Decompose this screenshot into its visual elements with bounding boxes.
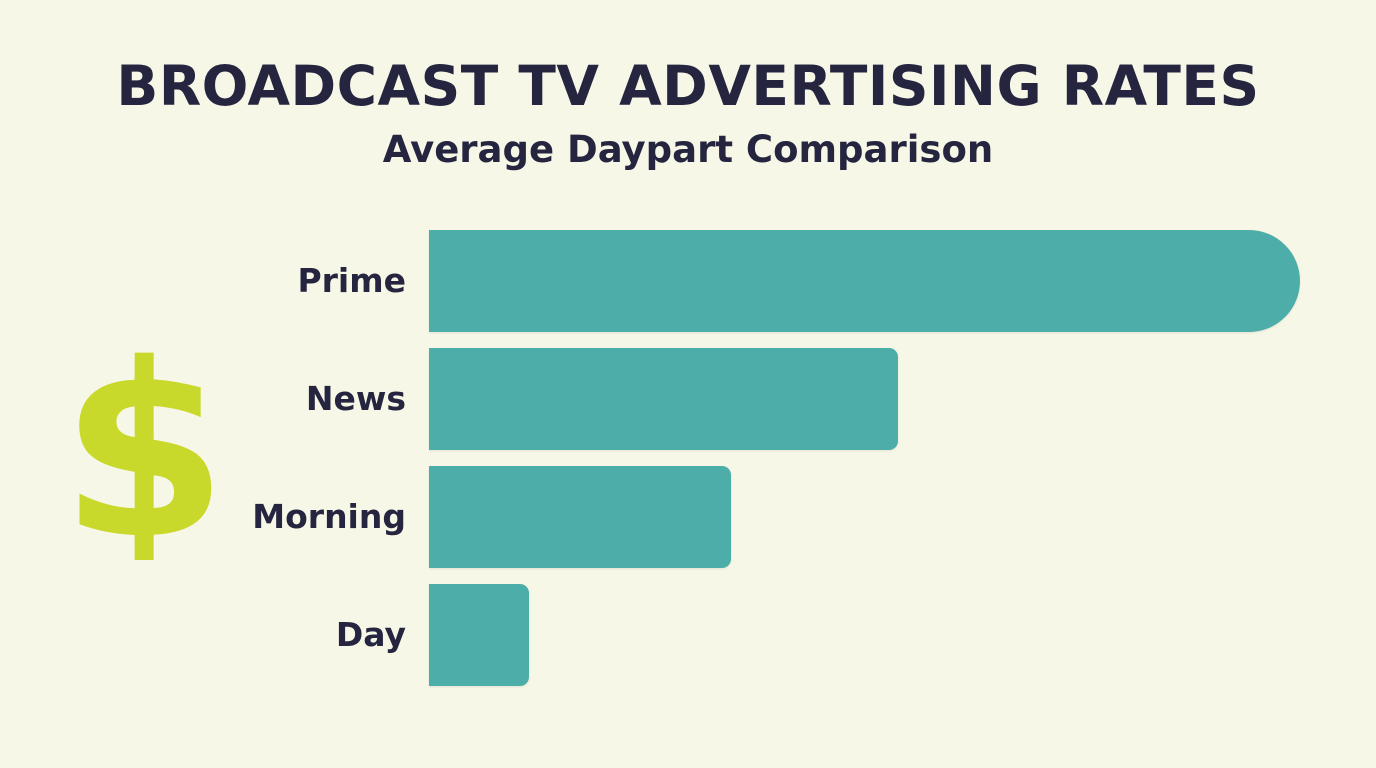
infographic-canvas: BROADCAST TV ADVERTISING RATES Average D…: [0, 0, 1376, 768]
chart-subtitle: Average Daypart Comparison: [0, 116, 1376, 171]
bar-row[interactable]: Day: [0, 584, 1376, 686]
bar-fill-day[interactable]: [429, 584, 529, 686]
bar-category-label: News: [0, 348, 406, 450]
bar-track: [429, 466, 1300, 568]
chart-header: BROADCAST TV ADVERTISING RATES Average D…: [0, 0, 1376, 170]
bar-chart-plot-area: Prime News Morning Day: [0, 230, 1376, 685]
bar-fill-prime[interactable]: [429, 230, 1300, 332]
bar-track: [429, 584, 1300, 686]
bar-row[interactable]: Morning: [0, 466, 1376, 568]
bar-category-label: Prime: [0, 230, 406, 332]
bar-fill-morning[interactable]: [429, 466, 731, 568]
bar-row[interactable]: Prime: [0, 230, 1376, 332]
bar-category-label: Morning: [0, 466, 406, 568]
bar-category-label: Day: [0, 584, 406, 686]
bar-fill-news[interactable]: [429, 348, 898, 450]
bar-track: [429, 348, 1300, 450]
bar-track: [429, 230, 1300, 332]
bar-row[interactable]: News: [0, 348, 1376, 450]
chart-title: BROADCAST TV ADVERTISING RATES: [0, 58, 1376, 116]
